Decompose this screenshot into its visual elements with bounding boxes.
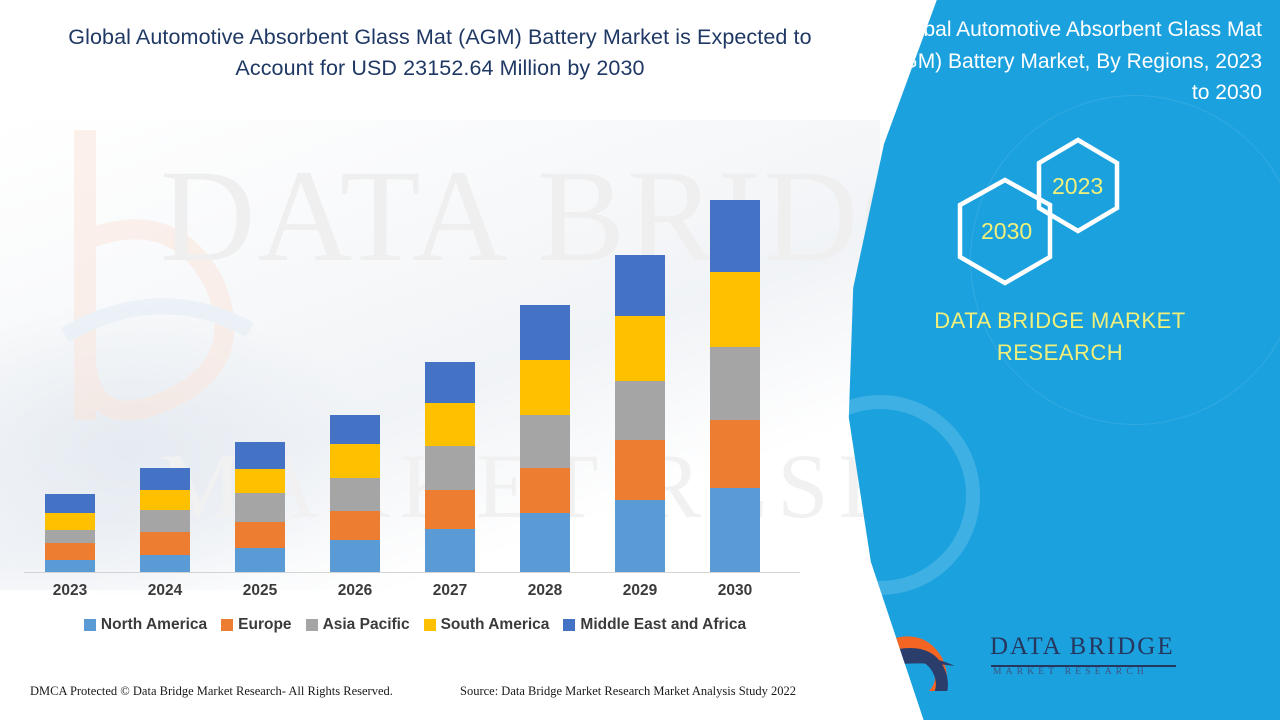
bar-segment-2030-north-america [710,488,760,572]
bar-segment-2026-asia-pacific [330,478,380,511]
logo-subtitle: MARKET RESEARCH [993,667,1148,677]
bar-segment-2026-south-america [330,444,380,478]
bar-segment-2024-south-america [140,490,190,510]
logo-title: DATA BRIDGE [990,633,1175,661]
x-tick-2029: 2029 [595,582,685,600]
hexagon-label-2023: 2023 [1052,173,1103,200]
bar-segment-2029-north-america [615,500,665,572]
bar-segment-2025-middle-east-and-africa [235,442,285,469]
bar-segment-2028-north-america [520,513,570,572]
bar-segment-2029-middle-east-and-africa [615,255,665,316]
bar-segment-2027-south-america [425,403,475,446]
bar-segment-2023-europe [45,543,95,560]
bar-segment-2023-asia-pacific [45,530,95,543]
bar-segment-2028-asia-pacific [520,415,570,468]
brand-line-1: DATA BRIDGE MARKET [860,305,1260,337]
legend-swatch-icon [424,619,436,631]
bar-2030 [710,200,760,572]
bar-2023 [45,494,95,572]
right-panel-inner: Global Automotive Absorbent Glass Mat (A… [840,0,1280,720]
bar-segment-2024-middle-east-and-africa [140,468,190,490]
legend-label: Europe [238,616,291,634]
infographic-root: DATA BRIDGE MARKET RESEARCH Global Autom… [0,0,1280,720]
bar-segment-2025-south-america [235,469,285,493]
hexagon-group: 2030 2023 [945,135,1195,315]
x-tick-2030: 2030 [690,582,780,600]
legend-item-europe[interactable]: Europe [221,616,291,634]
bar-segment-2028-middle-east-and-africa [520,305,570,360]
data-bridge-logo-icon [865,625,975,691]
bar-2028 [520,305,570,572]
legend-item-south-america[interactable]: South America [424,616,550,634]
hexagon-label-2030: 2030 [981,218,1032,245]
bar-segment-2024-north-america [140,555,190,572]
bar-segment-2025-asia-pacific [235,493,285,522]
x-axis-line [24,572,800,573]
bar-segment-2030-europe [710,420,760,488]
bar-segment-2025-europe [235,522,285,548]
bar-segment-2026-europe [330,511,380,540]
bar-2029 [615,255,665,572]
x-axis-tick-labels: 20232024202520262027202820292030 [0,582,880,612]
bar-segment-2030-south-america [710,272,760,347]
x-tick-2027: 2027 [405,582,495,600]
bar-segment-2027-europe [425,490,475,529]
legend-swatch-icon [306,619,318,631]
legend-label: South America [441,616,550,634]
brand-line-2: RESEARCH [860,337,1260,369]
bar-segment-2024-europe [140,532,190,555]
legend-swatch-icon [84,619,96,631]
legend-label: Asia Pacific [323,616,410,634]
bar-segment-2028-south-america [520,360,570,415]
legend-item-asia-pacific[interactable]: Asia Pacific [306,616,410,634]
bar-segment-2023-south-america [45,513,95,530]
bar-segment-2026-north-america [330,540,380,572]
bar-segment-2029-europe [615,440,665,500]
footer-copyright: DMCA Protected © Data Bridge Market Rese… [30,684,393,699]
stacked-bar-chart: 20232024202520262027202820292030 North A… [0,0,880,640]
x-tick-2025: 2025 [215,582,305,600]
bar-segment-2025-north-america [235,548,285,572]
footer: DMCA Protected © Data Bridge Market Rese… [0,672,880,720]
bar-segment-2027-north-america [425,529,475,572]
bar-segment-2027-middle-east-and-africa [425,362,475,403]
bar-segment-2027-asia-pacific [425,446,475,490]
bar-segment-2030-asia-pacific [710,347,760,420]
bar-segment-2028-europe [520,468,570,513]
chart-plot-area [0,0,880,572]
legend-label: North America [101,616,207,634]
chart-heading: Global Automotive Absorbent Glass Mat (A… [862,14,1262,109]
x-tick-2024: 2024 [120,582,210,600]
legend-swatch-icon [563,619,575,631]
bar-segment-2024-asia-pacific [140,510,190,532]
bar-segment-2023-middle-east-and-africa [45,494,95,513]
legend-swatch-icon [221,619,233,631]
brand-name: DATA BRIDGE MARKET RESEARCH [860,305,1260,369]
bar-2025 [235,442,285,572]
bar-2026 [330,415,380,572]
footer-source: Source: Data Bridge Market Research Mark… [460,684,796,699]
bar-segment-2026-middle-east-and-africa [330,415,380,444]
right-brand-panel: Global Automotive Absorbent Glass Mat (A… [840,0,1280,720]
company-logo: DATA BRIDGE MARKET RESEARCH [865,625,1265,695]
bar-2027 [425,362,475,572]
bar-segment-2029-asia-pacific [615,381,665,440]
chart-legend: North AmericaEuropeAsia PacificSouth Ame… [0,616,830,634]
legend-label: Middle East and Africa [580,616,746,634]
bar-segment-2023-north-america [45,560,95,572]
x-tick-2026: 2026 [310,582,400,600]
x-tick-2028: 2028 [500,582,590,600]
legend-item-north-america[interactable]: North America [84,616,207,634]
x-tick-2023: 2023 [25,582,115,600]
left-content-panel: DATA BRIDGE MARKET RESEARCH Global Autom… [0,0,880,720]
bar-2024 [140,468,190,572]
bar-segment-2030-middle-east-and-africa [710,200,760,272]
bar-segment-2029-south-america [615,316,665,381]
legend-item-middle-east-and-africa[interactable]: Middle East and Africa [563,616,746,634]
